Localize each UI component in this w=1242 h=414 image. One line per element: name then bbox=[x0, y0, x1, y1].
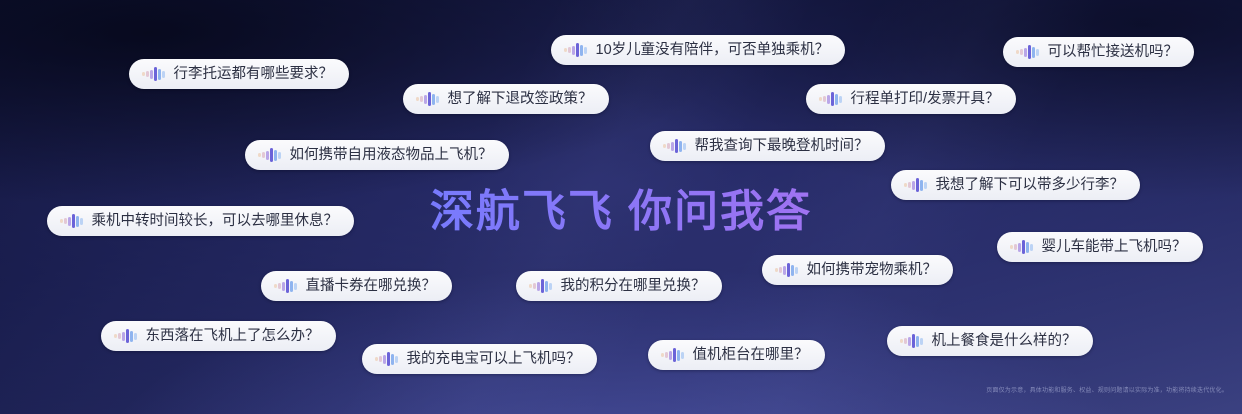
hero-banner: 深航飞飞 你问我答 10岁儿童没有陪伴，可否单独乘机？可以帮忙接送机吗？行李托运… bbox=[0, 0, 1242, 414]
voice-wave-icon bbox=[663, 138, 686, 154]
suggested-question-chip-liquids[interactable]: 如何携带自用液态物品上飞机？ bbox=[245, 140, 509, 170]
suggested-question-label: 值机柜台在哪里？ bbox=[693, 348, 809, 363]
suggested-question-label: 行程单打印/发票开具？ bbox=[851, 92, 1000, 107]
voice-wave-icon bbox=[416, 91, 439, 107]
suggested-question-chip-pet-travel[interactable]: 如何携带宠物乘机？ bbox=[762, 255, 953, 285]
suggested-question-label: 可以帮忙接送机吗？ bbox=[1048, 45, 1179, 60]
voice-wave-icon bbox=[564, 42, 587, 58]
suggested-question-chip-baggage-allowance[interactable]: 我想了解下可以带多少行李？ bbox=[891, 170, 1140, 200]
suggested-question-chip-child-alone[interactable]: 10岁儿童没有陪伴，可否单独乘机？ bbox=[551, 35, 845, 65]
voice-wave-icon bbox=[114, 328, 137, 344]
suggested-question-label: 婴儿车能带上飞机吗？ bbox=[1042, 240, 1187, 255]
voice-wave-icon bbox=[1010, 239, 1033, 255]
suggested-question-label: 直播卡券在哪兑换？ bbox=[306, 279, 437, 294]
suggested-question-label: 行李托运都有哪些要求？ bbox=[174, 67, 334, 82]
suggested-question-label: 乘机中转时间较长，可以去哪里休息？ bbox=[92, 214, 339, 229]
suggested-question-chip-lost-item[interactable]: 东西落在飞机上了怎么办？ bbox=[101, 321, 336, 351]
voice-wave-icon bbox=[60, 213, 83, 229]
suggested-question-chip-inflight-meal[interactable]: 机上餐食是什么样的？ bbox=[887, 326, 1093, 356]
suggested-question-chip-itinerary-invoice[interactable]: 行程单打印/发票开具？ bbox=[806, 84, 1016, 114]
voice-wave-icon bbox=[274, 278, 297, 294]
suggested-question-chip-pickup-service[interactable]: 可以帮忙接送机吗？ bbox=[1003, 37, 1194, 67]
suggested-question-label: 10岁儿童没有陪伴，可否单独乘机？ bbox=[596, 43, 830, 58]
suggested-question-label: 如何携带宠物乘机？ bbox=[807, 263, 938, 278]
voice-wave-icon bbox=[661, 347, 684, 363]
voice-wave-icon bbox=[142, 66, 165, 82]
suggested-question-label: 想了解下退改签政策？ bbox=[448, 92, 593, 107]
suggested-question-chip-baggage-rules[interactable]: 行李托运都有哪些要求？ bbox=[129, 59, 349, 89]
voice-wave-icon bbox=[375, 351, 398, 367]
suggested-question-chip-transit-rest[interactable]: 乘机中转时间较长，可以去哪里休息？ bbox=[47, 206, 354, 236]
voice-wave-icon bbox=[529, 278, 552, 294]
suggested-question-chip-checkin-counter[interactable]: 值机柜台在哪里？ bbox=[648, 340, 825, 370]
voice-wave-icon bbox=[1016, 44, 1039, 60]
suggested-question-chip-boarding-time[interactable]: 帮我查询下最晚登机时间？ bbox=[650, 131, 885, 161]
disclaimer-text: 页面仅为示意，具体功能和服务、权益、规则问题请以实际为准，功能将持续迭代优化。 bbox=[986, 387, 1228, 396]
suggested-question-label: 机上餐食是什么样的？ bbox=[932, 334, 1077, 349]
suggested-question-chip-points-exchange[interactable]: 我的积分在哪里兑换？ bbox=[516, 271, 722, 301]
suggested-question-label: 我的积分在哪里兑换？ bbox=[561, 279, 706, 294]
suggested-question-chip-refund-policy[interactable]: 想了解下退改签政策？ bbox=[403, 84, 609, 114]
voice-wave-icon bbox=[819, 91, 842, 107]
voice-wave-icon bbox=[258, 147, 281, 163]
suggested-question-chip-live-coupon[interactable]: 直播卡券在哪兑换？ bbox=[261, 271, 452, 301]
suggested-question-chip-stroller[interactable]: 婴儿车能带上飞机吗？ bbox=[997, 232, 1203, 262]
suggested-question-label: 帮我查询下最晚登机时间？ bbox=[695, 139, 869, 154]
voice-wave-icon bbox=[775, 262, 798, 278]
suggested-question-label: 东西落在飞机上了怎么办？ bbox=[146, 329, 320, 344]
voice-wave-icon bbox=[900, 333, 923, 349]
suggested-question-chip-power-bank[interactable]: 我的充电宝可以上飞机吗？ bbox=[362, 344, 597, 374]
voice-wave-icon bbox=[904, 177, 927, 193]
suggested-question-label: 我的充电宝可以上飞机吗？ bbox=[407, 352, 581, 367]
suggested-question-label: 如何携带自用液态物品上飞机？ bbox=[290, 148, 493, 163]
suggested-question-label: 我想了解下可以带多少行李？ bbox=[936, 178, 1125, 193]
